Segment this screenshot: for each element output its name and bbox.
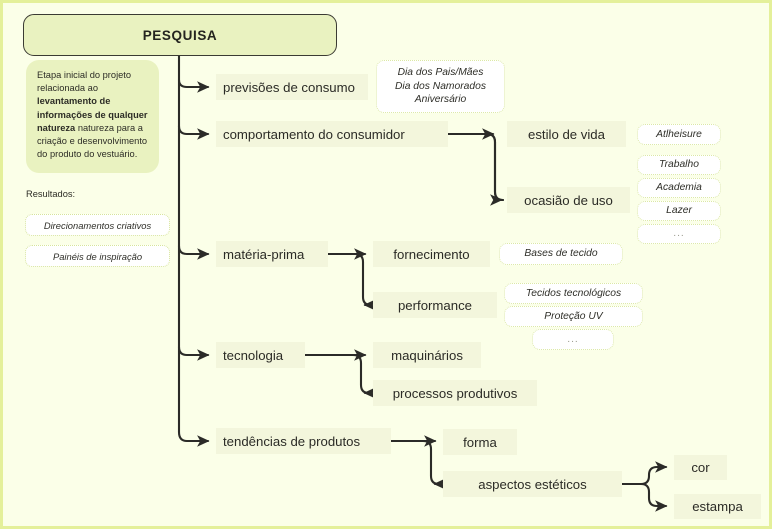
description-card: Etapa inicial do projeto relacionada ao … [26, 60, 159, 173]
node-performance-label: performance [398, 298, 472, 313]
node-estilo-de-vida[interactable]: estilo de vida [507, 121, 626, 147]
edge-trunk-previsoes [179, 80, 208, 87]
edge-trunk-tendencias [179, 432, 208, 441]
edge-materia-performance [355, 254, 371, 305]
edge-aspectos-estampa [641, 484, 666, 506]
node-previsoes-label: previsões de consumo [223, 80, 355, 95]
root-node-pesquisa[interactable]: PESQUISA [23, 14, 337, 56]
edge-trunk-comportamento [179, 126, 208, 134]
node-comportamento-label: comportamento do consumidor [223, 127, 405, 142]
edge-tendencias-aspectos [423, 441, 439, 484]
chip-atlheisure[interactable]: Atlheisure [637, 124, 721, 145]
node-materia-prima[interactable]: matéria-prima [216, 241, 328, 267]
description-part-2: relacionada ao [37, 83, 98, 93]
node-cor[interactable]: cor [674, 455, 727, 480]
result-chip-direcionamentos[interactable]: Direcionamentos criativos [25, 214, 170, 236]
chip-lazer-label: Lazer [666, 204, 692, 218]
node-maquinarios-label: maquinários [391, 348, 463, 363]
chip-tecidos-tecnologicos[interactable]: Tecidos tecnológicos [504, 283, 643, 304]
node-estilo-label: estilo de vida [528, 127, 605, 142]
node-fornecimento-label: fornecimento [393, 247, 469, 262]
root-node-label: PESQUISA [143, 28, 218, 43]
chip-tecidos-label: Tecidos tecnológicos [526, 287, 621, 301]
node-tecnologia-label: tecnologia [223, 348, 283, 363]
chip-lazer[interactable]: Lazer [637, 201, 721, 221]
chip-protecao-uv[interactable]: Proteção UV [504, 306, 643, 327]
results-label: Resultados: [26, 189, 75, 199]
node-estampa[interactable]: estampa [674, 494, 761, 519]
edge-comportamento-ocasiao [487, 134, 503, 200]
chip-ocasiao-ellipsis[interactable]: ... [637, 224, 721, 244]
chip-performance-ellipsis-label: ... [567, 333, 579, 347]
chip-academia-label: Academia [656, 181, 702, 195]
edge-trunk-tecnologia [179, 347, 208, 355]
chip-ocasiao-ellipsis-label: ... [673, 227, 685, 241]
chip-performance-ellipsis[interactable]: ... [532, 329, 614, 350]
description-part-1: Etapa inicial do projeto [37, 70, 131, 80]
description-text: Etapa inicial do projeto relacionada ao … [37, 69, 149, 161]
description-part-5: produto do vestuário. [50, 149, 137, 159]
chip-datas-comemorativas[interactable]: Dia dos Pais/Mães Dia dos Namorados Aniv… [376, 60, 505, 113]
node-cor-label: cor [691, 460, 709, 475]
node-maquinarios[interactable]: maquinários [373, 342, 481, 368]
node-estampa-label: estampa [692, 499, 743, 514]
chip-atlheisure-label: Atlheisure [656, 128, 702, 142]
node-tendencias-label: tendências de produtos [223, 434, 360, 449]
chip-trabalho[interactable]: Trabalho [637, 155, 721, 175]
result-chip-paineis[interactable]: Painéis de inspiração [25, 245, 170, 267]
node-previsoes-de-consumo[interactable]: previsões de consumo [216, 74, 368, 100]
chip-bases-de-tecido[interactable]: Bases de tecido [499, 243, 623, 265]
node-materia-label: matéria-prima [223, 247, 304, 262]
node-performance[interactable]: performance [373, 292, 497, 318]
node-forma-label: forma [463, 435, 497, 450]
node-tecnologia[interactable]: tecnologia [216, 342, 305, 368]
node-aspectos-esteticos[interactable]: aspectos estéticos [443, 471, 622, 497]
node-aspectos-label: aspectos estéticos [478, 477, 587, 492]
edge-tecnologia-processos [353, 355, 369, 393]
node-ocasiao-label: ocasião de uso [524, 193, 613, 208]
edge-trunk-materia [179, 246, 208, 254]
chip-academia[interactable]: Academia [637, 178, 721, 198]
node-fornecimento[interactable]: fornecimento [373, 241, 490, 267]
chip-datas-line-1: Dia dos Pais/Mães [398, 66, 484, 80]
chip-datas-line-3: Aniversário [415, 93, 467, 107]
edge-comportamento-ocasiao-arrow [487, 134, 503, 200]
chip-protecao-label: Proteção UV [544, 310, 602, 324]
diagram-canvas: PESQUISA Etapa inicial do projeto relaci… [0, 0, 772, 529]
node-forma[interactable]: forma [443, 429, 517, 455]
chip-trabalho-label: Trabalho [659, 158, 699, 172]
chip-bases-label: Bases de tecido [524, 247, 597, 261]
node-tendencias-de-produtos[interactable]: tendências de produtos [216, 428, 391, 454]
node-comportamento-do-consumidor[interactable]: comportamento do consumidor [216, 121, 448, 147]
node-processos-label: processos produtivos [393, 386, 518, 401]
node-processos-produtivos[interactable]: processos produtivos [373, 380, 537, 406]
node-ocasiao-de-uso[interactable]: ocasião de uso [507, 187, 630, 213]
edge-aspectos-cor [641, 467, 666, 484]
chip-datas-line-2: Dia dos Namorados [395, 80, 486, 94]
